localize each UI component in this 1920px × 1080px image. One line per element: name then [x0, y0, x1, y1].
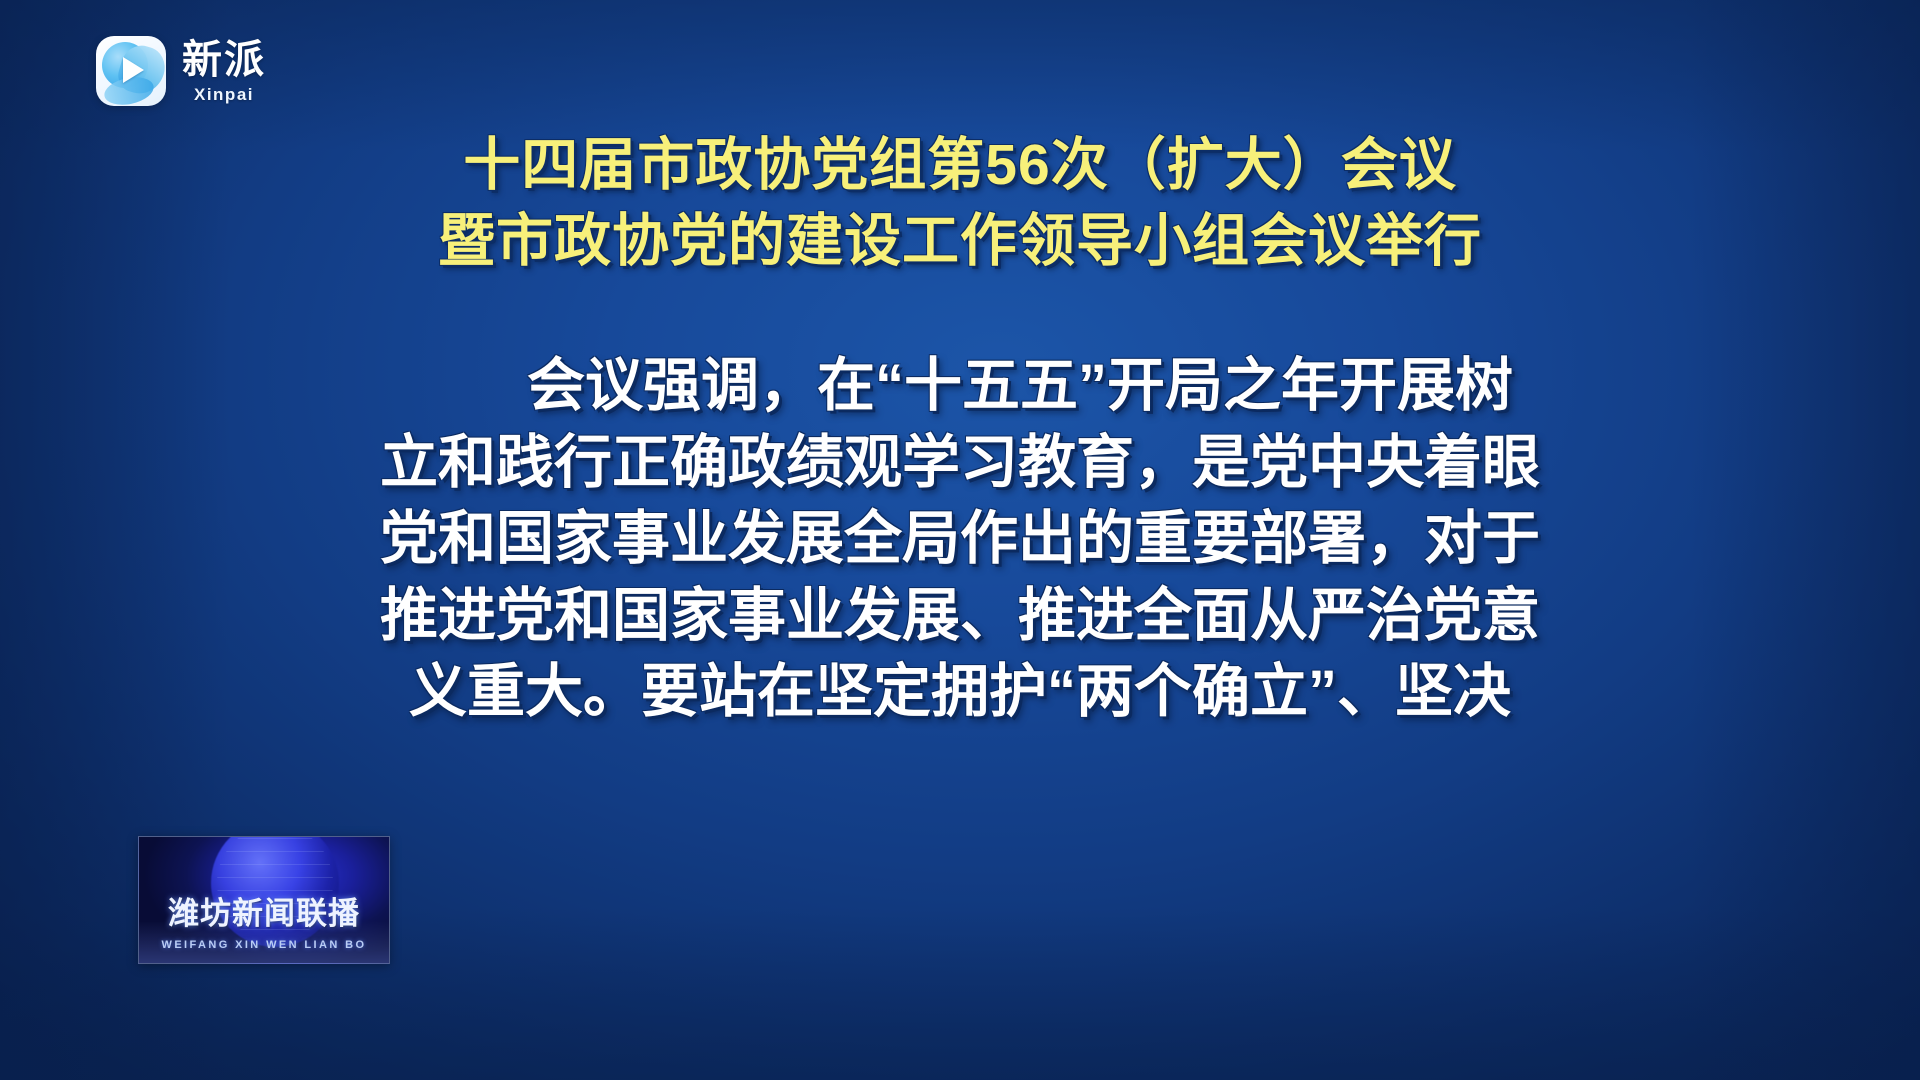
body-line-3: 党和国家事业发展全局作出的重要部署，对于	[0, 501, 1920, 578]
program-name-cn: 潍坊新闻联播	[139, 888, 389, 933]
body-paragraph: 会议强调，在“十五五”开局之年开展树 立和践行正确政绩观学习教育，是党中央着眼 …	[0, 348, 1920, 731]
xinpai-app-icon	[96, 36, 166, 106]
body-line-1: 会议强调，在“十五五”开局之年开展树	[0, 348, 1920, 425]
brand-text: 新派 Xinpai	[182, 40, 266, 103]
body-line-2: 立和践行正确政绩观学习教育，是党中央着眼	[0, 425, 1920, 502]
brand-name-en: Xinpai	[182, 86, 266, 103]
headline-line-2: 暨市政协党的建设工作领导小组会议举行	[0, 204, 1920, 280]
brand-name-cn: 新派	[182, 40, 266, 80]
body-line-4: 推进党和国家事业发展、推进全面从严治党意	[0, 578, 1920, 655]
headline-block: 十四届市政协党组第56次（扩大）会议 暨市政协党的建设工作领导小组会议举行	[0, 128, 1920, 280]
program-name-en: WEIFANG XIN WEN LIAN BO	[139, 939, 389, 951]
program-watermark: 潍坊新闻联播 WEIFANG XIN WEN LIAN BO	[138, 836, 390, 964]
headline-line-1: 十四届市政协党组第56次（扩大）会议	[0, 128, 1920, 204]
channel-brand-logo: 新派 Xinpai	[96, 36, 266, 106]
play-icon	[123, 57, 144, 83]
body-line-5: 义重大。要站在坚定拥护“两个确立”、坚决	[0, 654, 1920, 731]
news-broadcast-frame: 新派 Xinpai 十四届市政协党组第56次（扩大）会议 暨市政协党的建设工作领…	[0, 0, 1920, 1080]
